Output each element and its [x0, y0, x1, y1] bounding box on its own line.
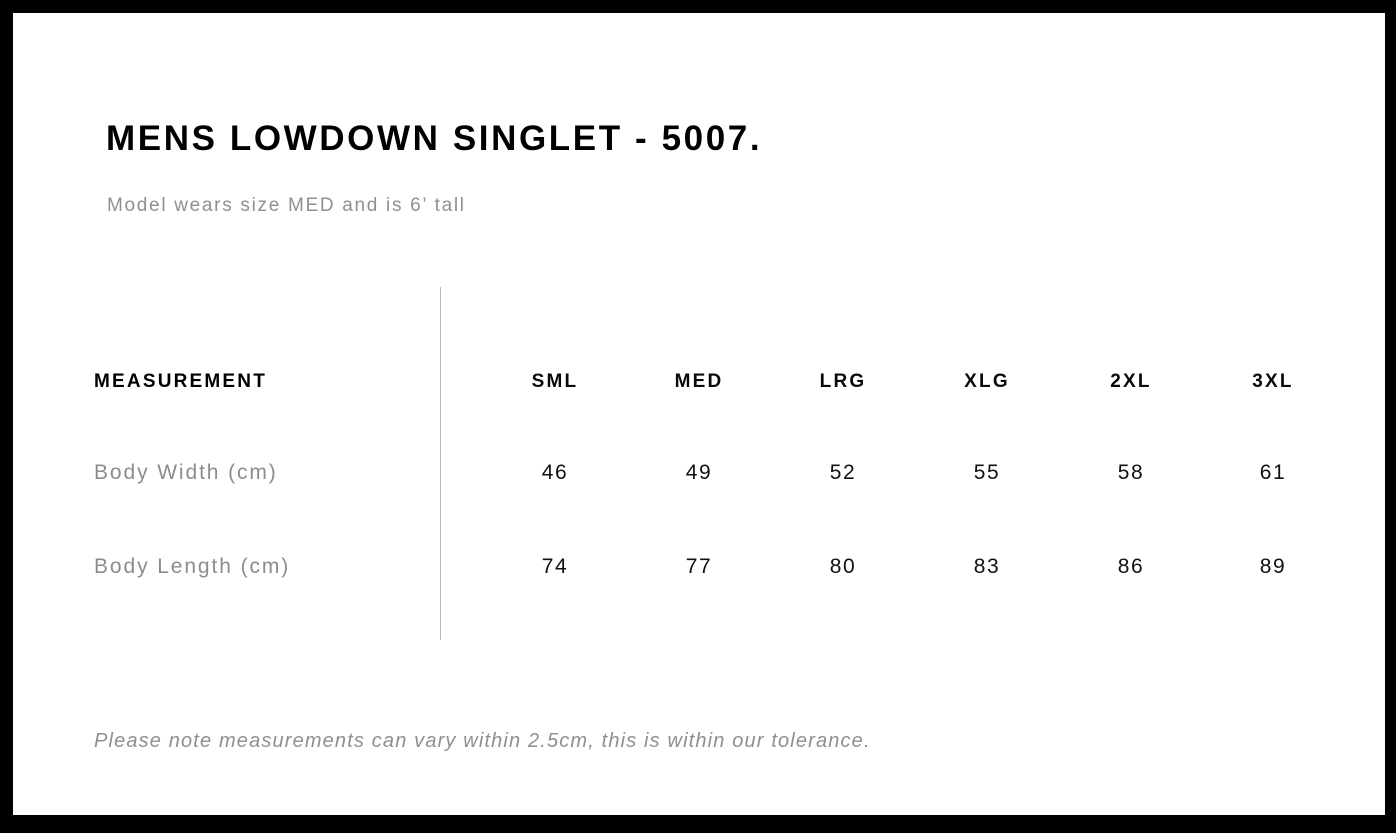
tolerance-note: Please note measurements can vary within…: [94, 731, 871, 751]
cell-body-length-2xl: 86: [1066, 552, 1196, 582]
size-chart-card: MENS LOWDOWN SINGLET - 5007. Model wears…: [13, 13, 1385, 815]
row-label-body-width: Body Width (cm): [94, 458, 278, 488]
column-header-3xl: 3XL: [1208, 367, 1338, 397]
table-header-row: MEASUREMENT SML MED LRG XLG 2XL 3XL: [13, 367, 1385, 397]
column-header-sml: SML: [490, 367, 620, 397]
cell-body-length-med: 77: [634, 552, 764, 582]
size-table: MEASUREMENT SML MED LRG XLG 2XL 3XL Body…: [13, 13, 1385, 815]
cell-body-width-3xl: 61: [1208, 458, 1338, 488]
cell-body-width-sml: 46: [490, 458, 620, 488]
cell-body-length-xlg: 83: [922, 552, 1052, 582]
column-header-xlg: XLG: [922, 367, 1052, 397]
cell-body-width-med: 49: [634, 458, 764, 488]
cell-body-length-3xl: 89: [1208, 552, 1338, 582]
cell-body-width-lrg: 52: [778, 458, 908, 488]
column-header-lrg: LRG: [778, 367, 908, 397]
cell-body-width-2xl: 58: [1066, 458, 1196, 488]
column-header-measurement: MEASUREMENT: [94, 367, 267, 397]
cell-body-length-lrg: 80: [778, 552, 908, 582]
cell-body-length-sml: 74: [490, 552, 620, 582]
table-row: Body Length (cm) 74 77 80 83 86 89: [13, 552, 1385, 582]
column-header-2xl: 2XL: [1066, 367, 1196, 397]
column-header-med: MED: [634, 367, 764, 397]
row-label-body-length: Body Length (cm): [94, 552, 290, 582]
table-row: Body Width (cm) 46 49 52 55 58 61: [13, 458, 1385, 488]
cell-body-width-xlg: 55: [922, 458, 1052, 488]
